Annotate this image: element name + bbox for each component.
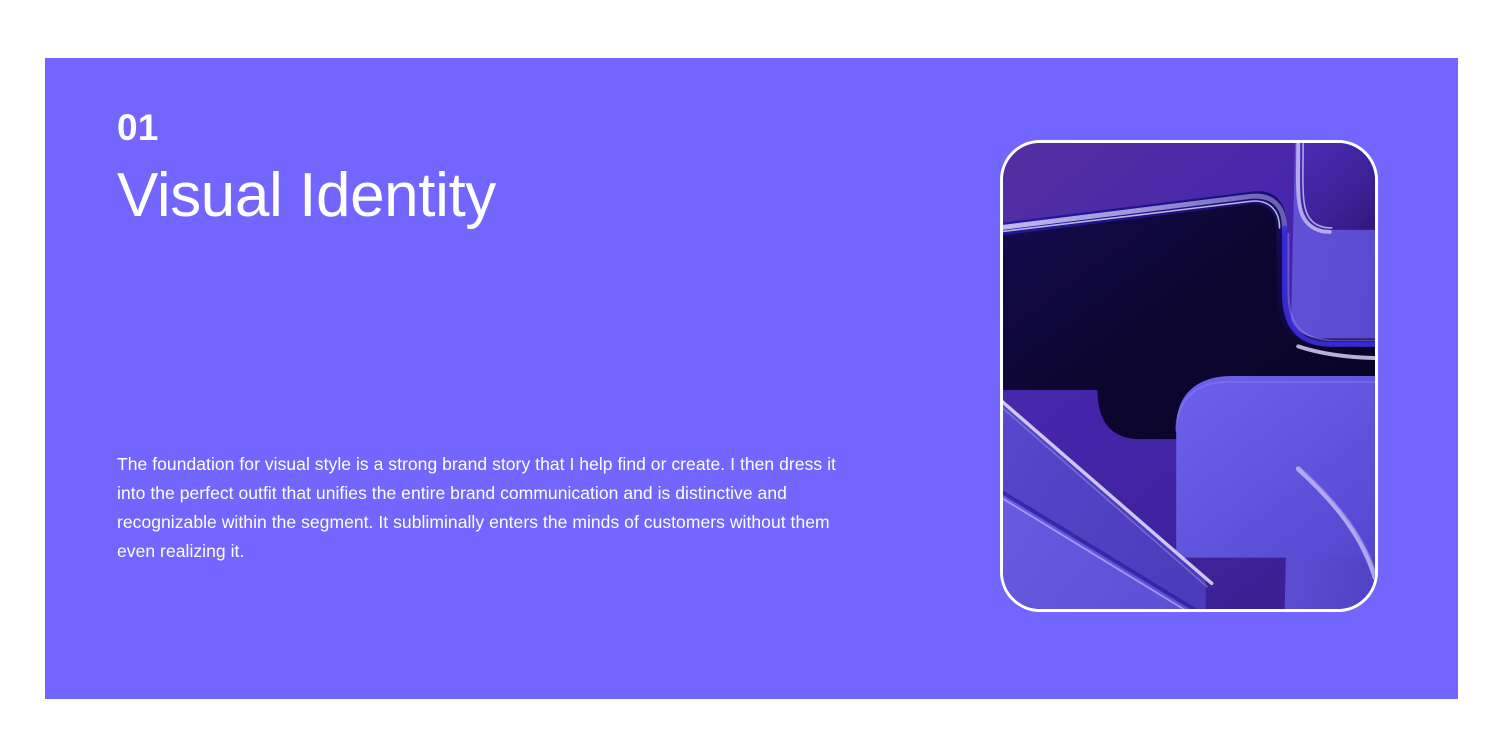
section-number: 01 bbox=[117, 105, 907, 151]
slide-root: 01 Visual Identity The foundation for vi… bbox=[0, 0, 1500, 750]
slide-panel: 01 Visual Identity The foundation for vi… bbox=[45, 58, 1458, 699]
text-column: 01 Visual Identity bbox=[117, 105, 907, 234]
abstract-ribbon-illustration bbox=[1003, 143, 1375, 609]
page-title: Visual Identity bbox=[117, 158, 907, 234]
section-description: The foundation for visual style is a str… bbox=[117, 450, 862, 566]
artwork-frame bbox=[1000, 140, 1378, 612]
artwork-canvas bbox=[1003, 143, 1375, 609]
